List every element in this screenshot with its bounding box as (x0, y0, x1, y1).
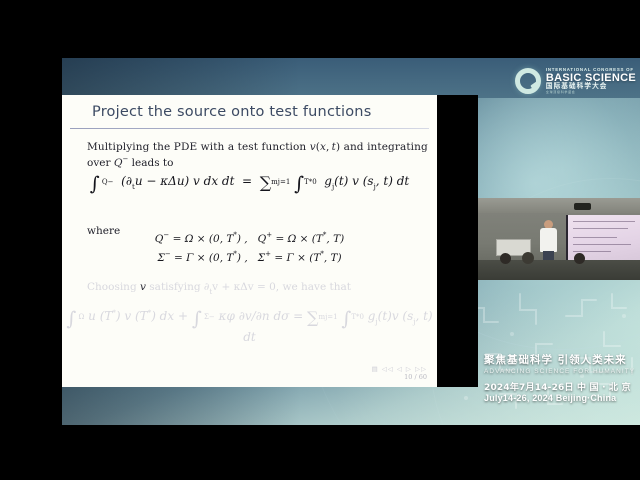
faded-equation: ∫ Ω u (T*) v (T*) dx + ∫ Σ− κφ ∂v/∂n dσ … (62, 308, 437, 344)
letterbox-top (0, 0, 640, 58)
video-frame: INTERNATIONAL CONGRESS OF BASIC SCIENCE … (0, 0, 640, 480)
slide-page-indicator: 10 / 60 (372, 373, 427, 381)
pillarbox-left (0, 58, 62, 425)
slide-navigation[interactable]: ▤ ◁◁ ◁ ▷ ▷▷ 10 / 60 (372, 365, 427, 381)
congress-ring-icon (515, 68, 541, 94)
slide-intro-line-2: over Q− leads to (87, 155, 173, 169)
logo-line-chinese-sub: 全球顶级科学盛会 (546, 91, 636, 94)
definition-row: Σ− = Γ × (0, T*) , Σ+ = Γ × (T*, T) (62, 247, 437, 266)
caption-english-slogan: ADVANCING SCIENCE FOR HUMANITY (484, 368, 640, 375)
caption-date-english: July14-26, 2024 Beijing·China (484, 393, 640, 403)
presentation-slide: Project the source onto test functions M… (62, 95, 437, 387)
audience-head (522, 252, 534, 264)
letterbox-bottom (0, 425, 640, 480)
main-equation: ∫ Q− (∂tu − κΔu) v dx dt = ∑mj=1 ∫T*0 gj… (62, 173, 437, 195)
conference-logo: INTERNATIONAL CONGRESS OF BASIC SCIENCE … (515, 68, 636, 94)
domain-definitions: Q− = Ω × (0, T*) , Q+ = Ω × (T*, T) Σ− =… (62, 228, 437, 266)
pillarbox-right (437, 95, 478, 387)
speaker-figure (540, 220, 557, 260)
audience-head (574, 253, 585, 264)
upcoming-overlay-step: Choosing v satisfying ∂tv + κΔv = 0, we … (62, 281, 437, 344)
speaker-video-thumbnail[interactable] (478, 198, 640, 280)
slide-title: Project the source onto test functions (92, 104, 371, 120)
lecture-room-ceiling (478, 198, 640, 213)
faded-text-line: Choosing v satisfying ∂tv + κΔv = 0, we … (62, 281, 437, 296)
slide-intro-line-1: Multiplying the PDE with a test function… (87, 141, 428, 153)
caption-date-chinese: 2024年7月14-26日 中 国 · 北 京 (484, 380, 640, 393)
definition-row: Q− = Ω × (0, T*) , Q+ = Ω × (T*, T) (62, 228, 437, 247)
title-divider (70, 128, 429, 129)
projector-icon (574, 203, 591, 210)
caption-chinese-slogan: 聚焦基础科学 引领人类未来 (484, 352, 640, 367)
conference-caption: 聚焦基础科学 引领人类未来 ADVANCING SCIENCE FOR HUMA… (484, 352, 640, 403)
audience-head (500, 253, 511, 264)
slide-nav-icons[interactable]: ▤ ◁◁ ◁ ▷ ▷▷ (372, 365, 427, 373)
logo-text-block: INTERNATIONAL CONGRESS OF BASIC SCIENCE … (546, 68, 636, 94)
